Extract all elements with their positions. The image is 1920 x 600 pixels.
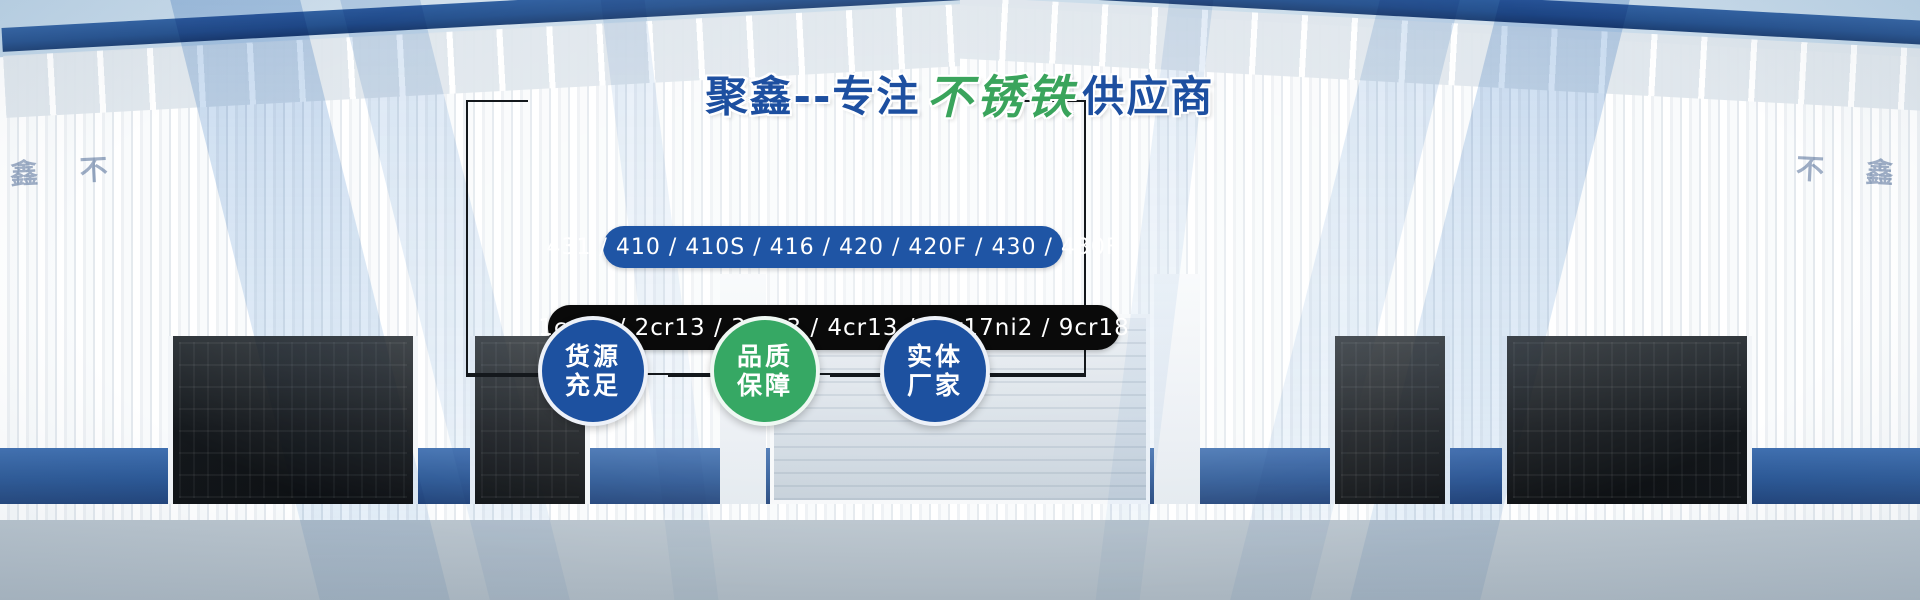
headline-segment-supplier: 供应商 bbox=[1082, 76, 1214, 118]
badge-line-1: 货源 bbox=[565, 342, 621, 372]
promotional-banner: 鑫 不 不 鑫 聚鑫--专注 bbox=[0, 0, 1920, 600]
banner-content: 聚鑫--专注不锈铁供应商 431 / 410 / 410S / 416 / 42… bbox=[0, 0, 1920, 600]
badge-line-2: 充足 bbox=[565, 371, 621, 401]
badge-quality-guarantee: 品质 保障 bbox=[710, 316, 820, 426]
headline-segment-brand: 聚鑫--专注 bbox=[706, 76, 921, 118]
headline-segment-product: 不锈铁 bbox=[920, 74, 1082, 120]
grade-bar-stainless: 431 / 410 / 410S / 416 / 420 / 420F / 43… bbox=[603, 226, 1063, 268]
badge-line-2: 厂家 bbox=[907, 371, 963, 401]
badge-line-1: 实体 bbox=[907, 342, 963, 372]
badge-supply-sufficient: 货源 充足 bbox=[538, 316, 648, 426]
badge-connector bbox=[990, 374, 1086, 377]
headline: 聚鑫--专注不锈铁供应商 bbox=[0, 74, 1920, 120]
badge-connector bbox=[830, 374, 880, 377]
badge-real-factory: 实体 厂家 bbox=[880, 316, 990, 426]
badge-line-1: 品质 bbox=[737, 342, 793, 372]
badge-line-2: 保障 bbox=[737, 371, 793, 401]
